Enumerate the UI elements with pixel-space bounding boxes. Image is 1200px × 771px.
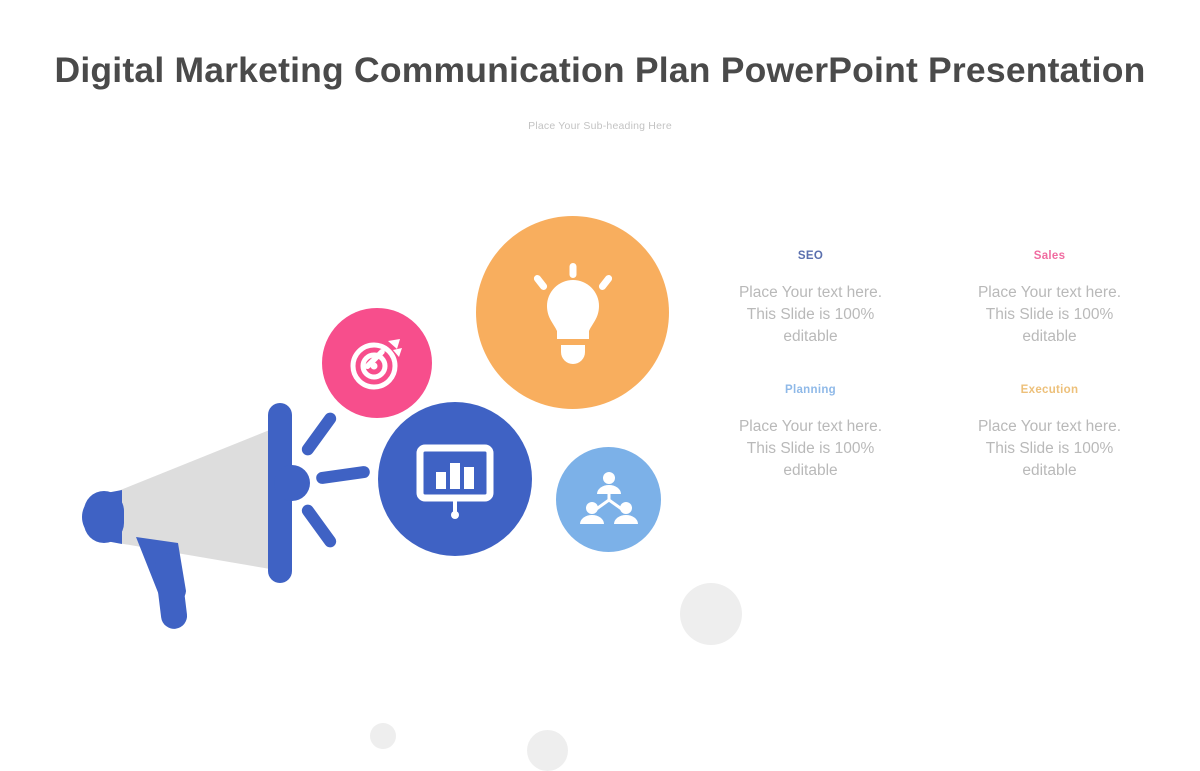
team-hierarchy-icon — [579, 470, 639, 530]
icon-circle-team[interactable] — [556, 447, 661, 552]
feature-title-seo: SEO — [700, 250, 921, 262]
decorative-dot — [527, 730, 568, 771]
page-subtitle: Place Your Sub-heading Here — [0, 120, 1200, 132]
icon-circle-lightbulb[interactable] — [476, 216, 669, 409]
feature-title-planning: Planning — [700, 384, 921, 396]
icon-circle-presentation[interactable] — [378, 402, 532, 556]
feature-body-planning: Place Your text here. This Slide is 100%… — [700, 416, 921, 482]
feature-block-planning: Planning Place Your text here. This Slid… — [700, 384, 921, 482]
feature-blocks: SEO Place Your text here. This Slide is … — [700, 250, 1160, 482]
feature-title-sales: Sales — [939, 250, 1160, 262]
icon-circle-target[interactable] — [322, 308, 432, 418]
feature-body-seo: Place Your text here. This Slide is 100%… — [700, 282, 921, 348]
megaphone-knob — [274, 465, 310, 501]
megaphone-sound-line — [315, 465, 370, 484]
lightbulb-icon — [523, 258, 623, 368]
slide-canvas: Digital Marketing Communication Plan Pow… — [0, 0, 1200, 675]
decorative-circle — [680, 583, 742, 645]
page-title: Digital Marketing Communication Plan Pow… — [0, 50, 1200, 91]
decorative-dot — [370, 723, 396, 749]
megaphone-back-cap-2 — [84, 491, 124, 543]
feature-body-sales: Place Your text here. This Slide is 100%… — [939, 282, 1160, 348]
feature-body-execution: Place Your text here. This Slide is 100%… — [939, 416, 1160, 482]
feature-block-execution: Execution Place Your text here. This Sli… — [939, 384, 1160, 482]
megaphone-illustration — [60, 385, 390, 645]
megaphone-sound-line — [299, 410, 338, 458]
presentation-board-icon — [412, 436, 498, 522]
feature-block-seo: SEO Place Your text here. This Slide is … — [700, 250, 921, 348]
illustration-group — [40, 190, 720, 650]
feature-title-execution: Execution — [939, 384, 1160, 396]
megaphone-handle — [153, 552, 188, 631]
feature-block-sales: Sales Place Your text here. This Slide i… — [939, 250, 1160, 348]
megaphone-sound-line — [299, 502, 338, 550]
target-icon — [346, 332, 408, 394]
